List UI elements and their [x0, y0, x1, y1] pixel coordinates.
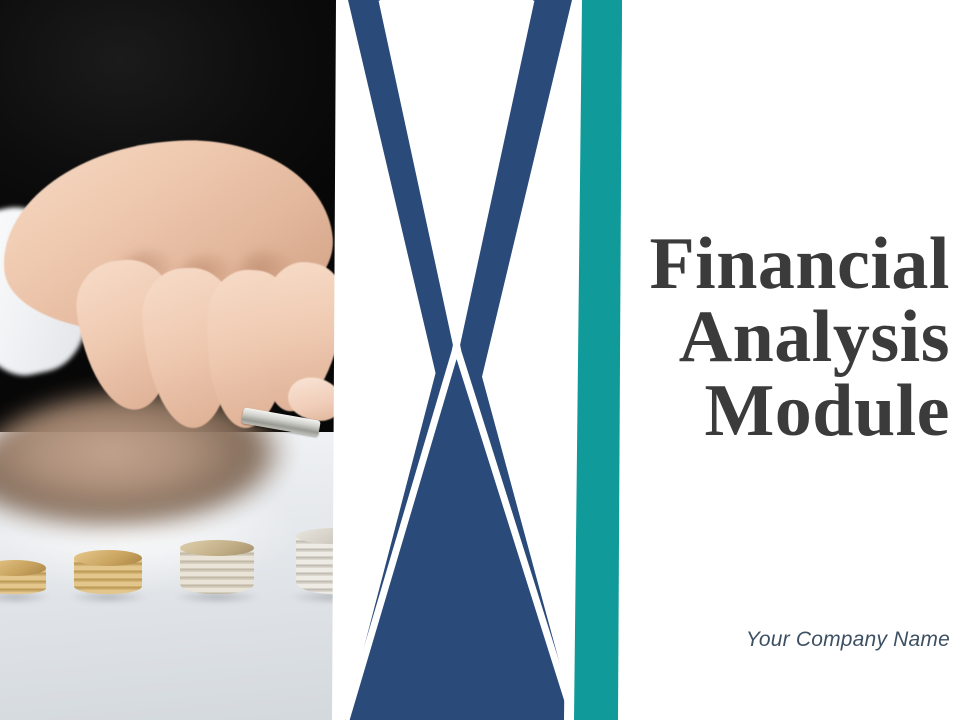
slide-canvas: Financial Analysis Module Your Company N… [0, 0, 960, 720]
coin-stack [74, 550, 142, 594]
coin-stack [180, 540, 254, 594]
coin-stack-body [296, 536, 374, 594]
coin-stack-top [74, 550, 142, 566]
hero-photo [0, 0, 400, 720]
coin-stack [0, 560, 46, 594]
coin-stack-top [180, 540, 254, 556]
hand [2, 142, 372, 442]
company-name: Your Company Name [530, 628, 950, 652]
page-title: Financial Analysis Module [430, 228, 950, 448]
coin-stack [296, 528, 374, 594]
coin-stack-top [296, 528, 374, 544]
